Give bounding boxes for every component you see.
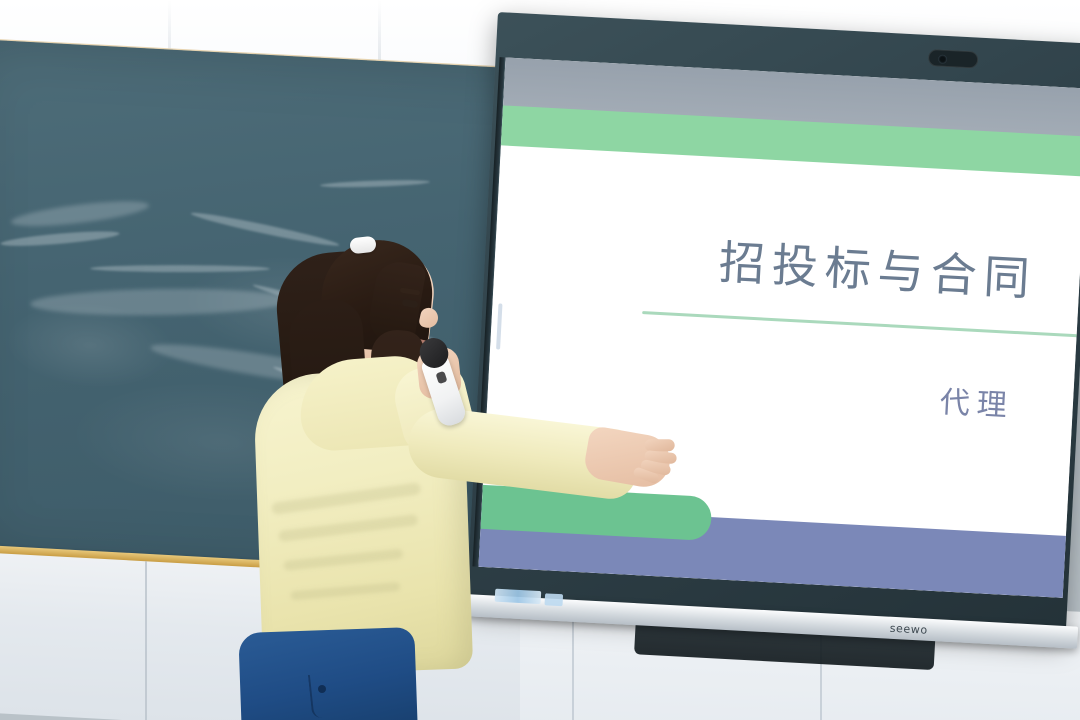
interactive-flat-panel-display[interactable]: 招投标与合同 代理 seewo <box>464 12 1080 683</box>
presentation-slide: 招投标与合同 代理 <box>478 57 1080 597</box>
bezel-sticker-small <box>544 593 563 606</box>
seewo-brand-logo: seewo <box>889 622 928 637</box>
camera-icon <box>928 49 979 69</box>
slide-left-marker <box>496 303 502 349</box>
bezel-sticker <box>495 589 542 604</box>
slide-subtitle: 代理 <box>939 377 1080 437</box>
display-screen[interactable]: 招投标与合同 代理 <box>478 57 1080 597</box>
slide-title-underline <box>642 311 1080 341</box>
classroom-presentation-photo: 招投标与合同 代理 seewo <box>0 0 1080 720</box>
slide-title: 招投标与合同 <box>718 237 1080 310</box>
